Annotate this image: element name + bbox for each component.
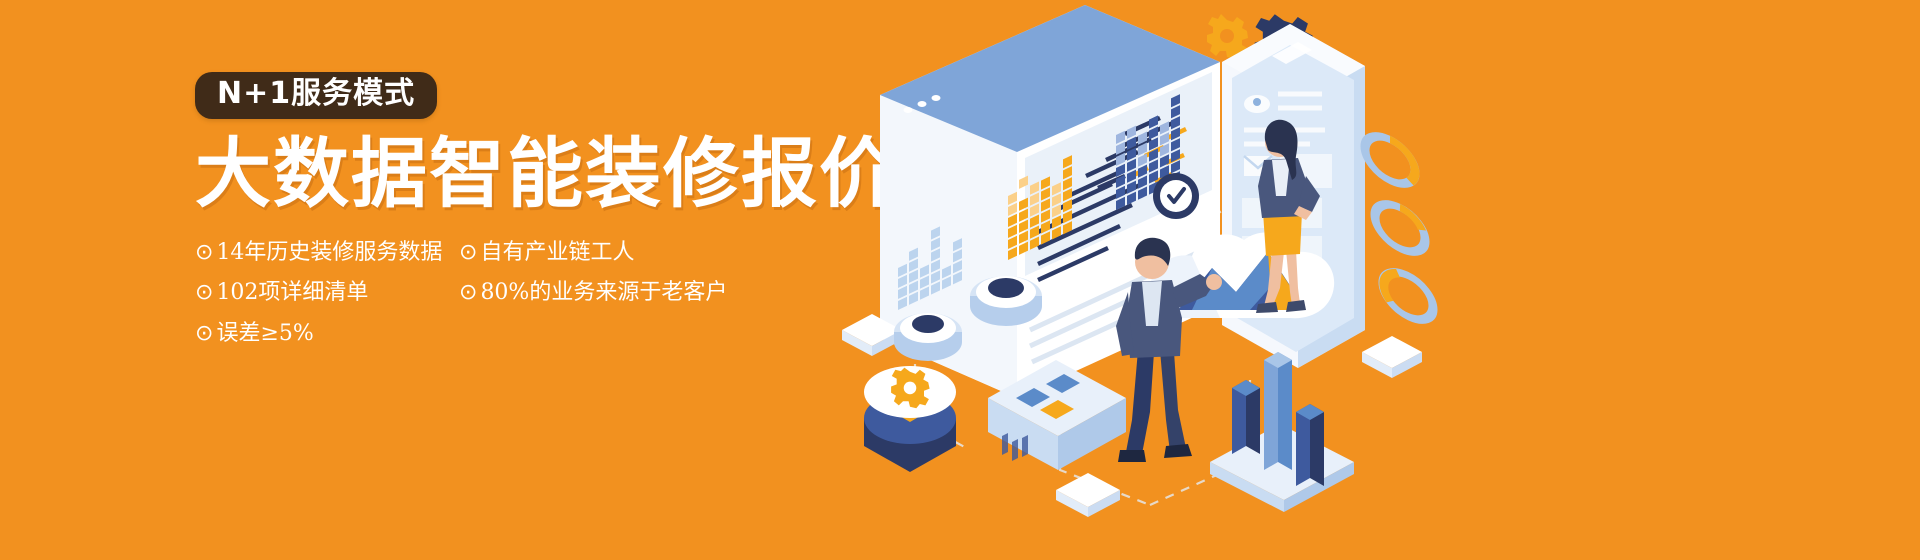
donut-ring-chart xyxy=(1365,128,1433,328)
list-item: ⊙14年历史装修服务数据 xyxy=(195,239,441,267)
database-cylinder xyxy=(864,366,956,472)
feature-bullet-list: ⊙14年历史装修服务数据 ⊙102项详细清单 ⊙误差≥5% ⊙自有产业链工人 ⊙… xyxy=(195,239,855,348)
bullet-marker-icon: ⊙ xyxy=(459,280,477,305)
bullet-marker-icon: ⊙ xyxy=(195,280,213,305)
list-item: ⊙80%的业务来源于老客户 xyxy=(459,279,759,307)
list-item-label: 102项详细清单 xyxy=(216,280,368,305)
list-item: ⊙102项详细清单 xyxy=(195,279,441,307)
promo-banner: N+1服务模式 大数据智能装修报价 ⊙14年历史装修服务数据 ⊙102项详细清单… xyxy=(0,0,1920,560)
stacked-discs xyxy=(894,313,962,361)
service-model-badge: N+1服务模式 xyxy=(195,72,437,119)
bullet-marker-icon: ⊙ xyxy=(459,240,477,265)
bullet-column-right: ⊙自有产业链工人 ⊙80%的业务来源于老客户 xyxy=(459,239,759,348)
bullet-column-left: ⊙14年历史装修服务数据 ⊙102项详细清单 ⊙误差≥5% xyxy=(195,239,441,348)
bullet-marker-icon: ⊙ xyxy=(195,321,213,346)
banner-text-block: N+1服务模式 大数据智能装修报价 ⊙14年历史装修服务数据 ⊙102项详细清单… xyxy=(195,72,855,347)
list-item-label: 自有产业链工人 xyxy=(480,240,634,265)
phone-avatar-icon xyxy=(1244,95,1270,113)
isometric-illustration xyxy=(820,0,1520,560)
gear-icon xyxy=(891,368,930,409)
list-item-label: 误差≥5% xyxy=(216,321,313,346)
bar-chart-3d xyxy=(1210,352,1354,512)
floating-tile xyxy=(1056,473,1120,517)
floating-tile xyxy=(1362,336,1422,378)
list-item: ⊙自有产业链工人 xyxy=(459,239,759,267)
banner-headline: 大数据智能装修报价 xyxy=(195,135,855,213)
bullet-marker-icon: ⊙ xyxy=(195,240,213,265)
check-circle-icon xyxy=(1153,173,1199,219)
list-item: ⊙误差≥5% xyxy=(195,320,441,348)
list-item-label: 80%的业务来源于老客户 xyxy=(480,280,727,305)
stacked-discs xyxy=(970,276,1042,326)
list-item-label: 14年历史装修服务数据 xyxy=(216,240,442,265)
